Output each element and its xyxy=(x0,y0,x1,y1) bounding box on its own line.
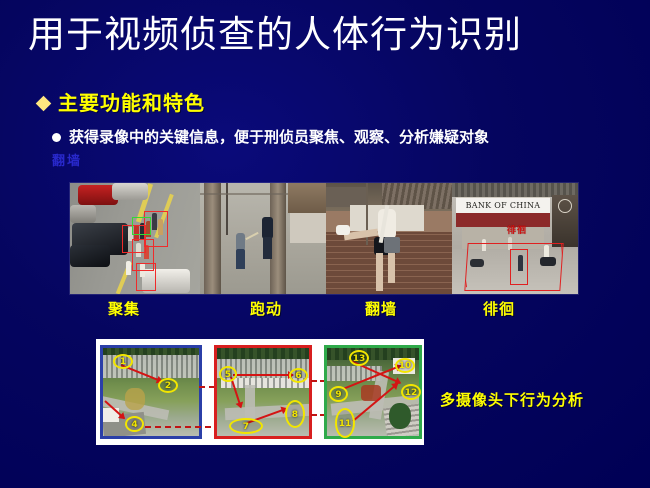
photo-strip: BANK OF CHINA 徘徊 xyxy=(70,183,578,294)
track-point-1: 1 xyxy=(113,354,133,369)
bank-sign-text: BANK OF CHINA xyxy=(456,197,550,213)
bullet-level2: 获得录像中的关键信息，便于刑侦员聚焦、观察、分析嫌疑对象 xyxy=(52,128,489,147)
track-point-7: 7 xyxy=(229,418,263,434)
track-point-9: 9 xyxy=(329,386,348,402)
multicam-panel: 1 2 4 5 6 7 8 xyxy=(96,339,424,445)
camera-1: 1 2 4 xyxy=(100,345,202,439)
track-point-2: 2 xyxy=(158,378,178,393)
frame-running xyxy=(200,183,326,294)
slide: 用于视频侦查的人体行为识别 主要功能和特色 获得录像中的关键信息，便于刑侦员聚焦… xyxy=(0,0,650,488)
label-loitering: 徘徊 xyxy=(483,298,515,319)
frame-loitering-overlay-text: 徘徊 xyxy=(507,223,527,236)
bullet-level1-label: 主要功能和特色 xyxy=(58,92,205,114)
bullet-level1: 主要功能和特色 xyxy=(38,92,205,114)
multicam-caption: 多摄像头下行为分析 xyxy=(440,389,584,410)
round-bullet-icon xyxy=(52,133,61,142)
camera-2: 5 6 7 8 xyxy=(214,345,312,439)
label-wall-climbing: 翻墙 xyxy=(365,298,397,319)
bullet-level2-label: 获得录像中的关键信息，便于刑侦员聚焦、观察、分析嫌疑对象 xyxy=(69,128,489,147)
track-point-6: 6 xyxy=(289,368,308,383)
frame-wall-climbing xyxy=(326,183,452,294)
track-point-11: 11 xyxy=(335,408,355,438)
label-running: 跑动 xyxy=(250,298,282,319)
track-point-13: 12 xyxy=(401,384,421,400)
track-point-10: 10 xyxy=(395,358,415,373)
track-point-12: 13 xyxy=(349,350,369,366)
camera-3: 13 10 9 12 11 xyxy=(324,345,422,439)
label-gathering: 聚集 xyxy=(108,298,140,319)
diamond-bullet-icon xyxy=(36,95,52,111)
page-title: 用于视频侦查的人体行为识别 xyxy=(28,12,628,58)
track-point-5: 5 xyxy=(219,366,237,382)
track-point-8: 8 xyxy=(285,400,305,428)
frame-loitering: BANK OF CHINA 徘徊 xyxy=(452,183,578,294)
behaviour-labels: 聚集 跑动 翻墙 徘徊 xyxy=(70,298,578,320)
frame-gathering xyxy=(70,183,200,294)
track-point-4: 4 xyxy=(125,416,144,432)
faint-overlay-text: 翻墙 xyxy=(52,150,82,169)
